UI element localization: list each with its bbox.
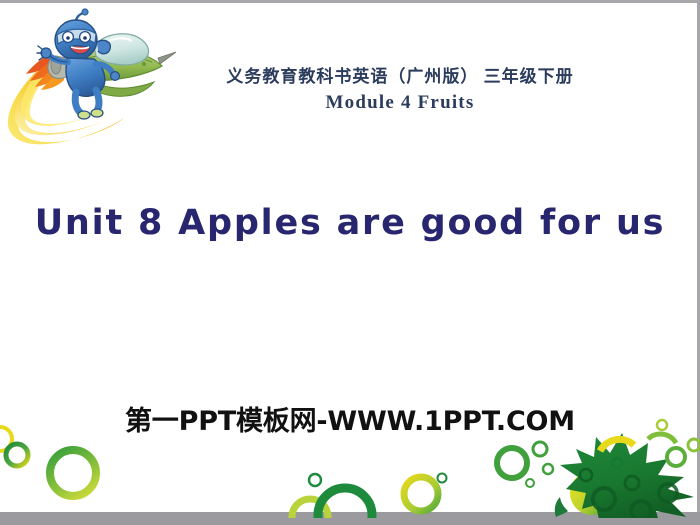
decor-ring — [438, 474, 447, 483]
decor-ring — [526, 479, 534, 487]
decor-ring — [667, 448, 685, 466]
decor-ring — [593, 488, 615, 510]
decor-ring — [533, 442, 547, 456]
decor-ring — [6, 444, 28, 466]
presentation-slide: 义务教育教科书英语（广州版） 三年级下册 Module 4 Fruits Uni… — [0, 0, 700, 525]
decor-ring — [543, 464, 553, 474]
decor-ring — [309, 474, 321, 486]
watermark-text: 第一PPT模板网-WWW.1PPT.COM — [0, 399, 700, 438]
decor-ring — [688, 439, 700, 451]
decor-ring — [659, 484, 677, 502]
slide-frame-bottom-highlight — [0, 512, 700, 514]
decor-arc — [600, 439, 634, 451]
decor-ring — [318, 488, 372, 525]
decor-ring — [404, 477, 438, 511]
decor-ring — [292, 499, 328, 525]
page-title: Unit 8 Apples are good for us — [0, 203, 700, 243]
decor-ring — [612, 458, 622, 468]
decor-blob — [570, 471, 614, 515]
decor-ring — [50, 450, 96, 496]
header-line-chinese: 义务教育教科书英语（广州版） 三年级下册 — [150, 66, 650, 87]
course-header: 义务教育教科书英语（广州版） 三年级下册 Module 4 Fruits — [150, 66, 650, 115]
decor-ring — [631, 501, 651, 521]
decor-ring — [580, 469, 592, 481]
header-line-module: Module 4 Fruits — [150, 91, 650, 115]
decor-leaf-sprig — [555, 497, 568, 517]
decor-ring — [497, 448, 527, 478]
slide-frame-bottom-edge — [0, 512, 700, 525]
decor-ring — [625, 476, 639, 490]
maple-leaf — [560, 433, 694, 525]
